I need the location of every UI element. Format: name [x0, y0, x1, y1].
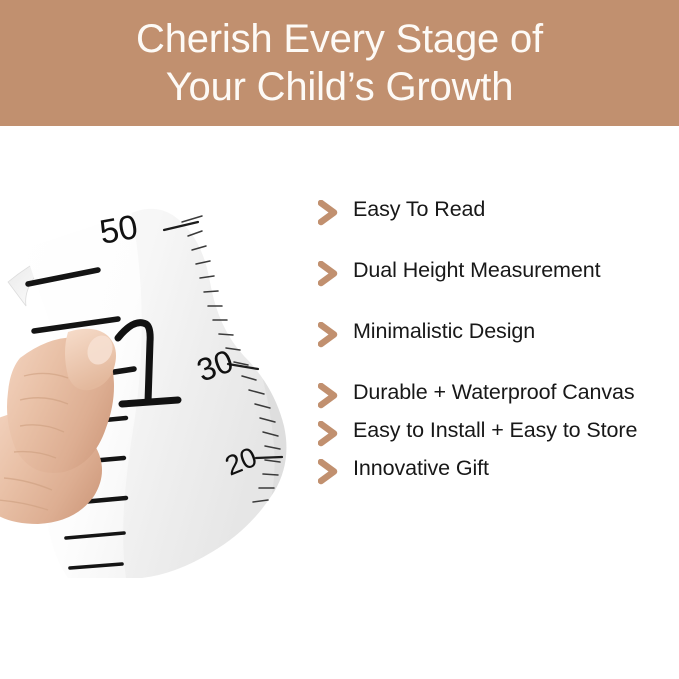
- chevron-right-icon: [318, 455, 353, 485]
- product-photo: 50 30 20: [0, 150, 320, 580]
- feature-item-minimalistic-design: Minimalistic Design: [318, 318, 676, 348]
- feature-label: Dual Height Measurement: [353, 257, 676, 284]
- chevron-right-icon: [318, 417, 353, 447]
- feature-item-dual-height-measurement: Dual Height Measurement: [318, 257, 676, 287]
- feature-item-durable-waterproof-canvas: Durable + Waterproof Canvas: [318, 379, 676, 409]
- feature-label: Easy To Read: [353, 196, 676, 223]
- feature-label: Easy to Install + Easy to Store: [353, 417, 676, 444]
- feature-list: Easy To Read Dual Height Measurement Min…: [318, 196, 676, 495]
- feature-item-innovative-gift: Innovative Gift: [318, 455, 676, 485]
- infographic-page: Cherish Every Stage of Your Child’s Grow…: [0, 0, 679, 679]
- hand-icon: [0, 318, 140, 533]
- feature-label: Minimalistic Design: [353, 318, 676, 345]
- chevron-right-icon: [318, 257, 353, 287]
- ruler-number-50: 50: [97, 208, 141, 252]
- feature-label: Innovative Gift: [353, 455, 676, 482]
- feature-label: Durable + Waterproof Canvas: [353, 379, 676, 406]
- feature-item-easy-to-install-store: Easy to Install + Easy to Store: [318, 417, 676, 447]
- chevron-right-icon: [318, 196, 353, 226]
- chevron-right-icon: [318, 379, 353, 409]
- chevron-right-icon: [318, 318, 353, 348]
- feature-item-easy-to-read: Easy To Read: [318, 196, 676, 226]
- headline-line-2: Your Child’s Growth: [166, 63, 514, 111]
- headline-line-1: Cherish Every Stage of: [136, 15, 543, 63]
- header-banner: Cherish Every Stage of Your Child’s Grow…: [0, 0, 679, 126]
